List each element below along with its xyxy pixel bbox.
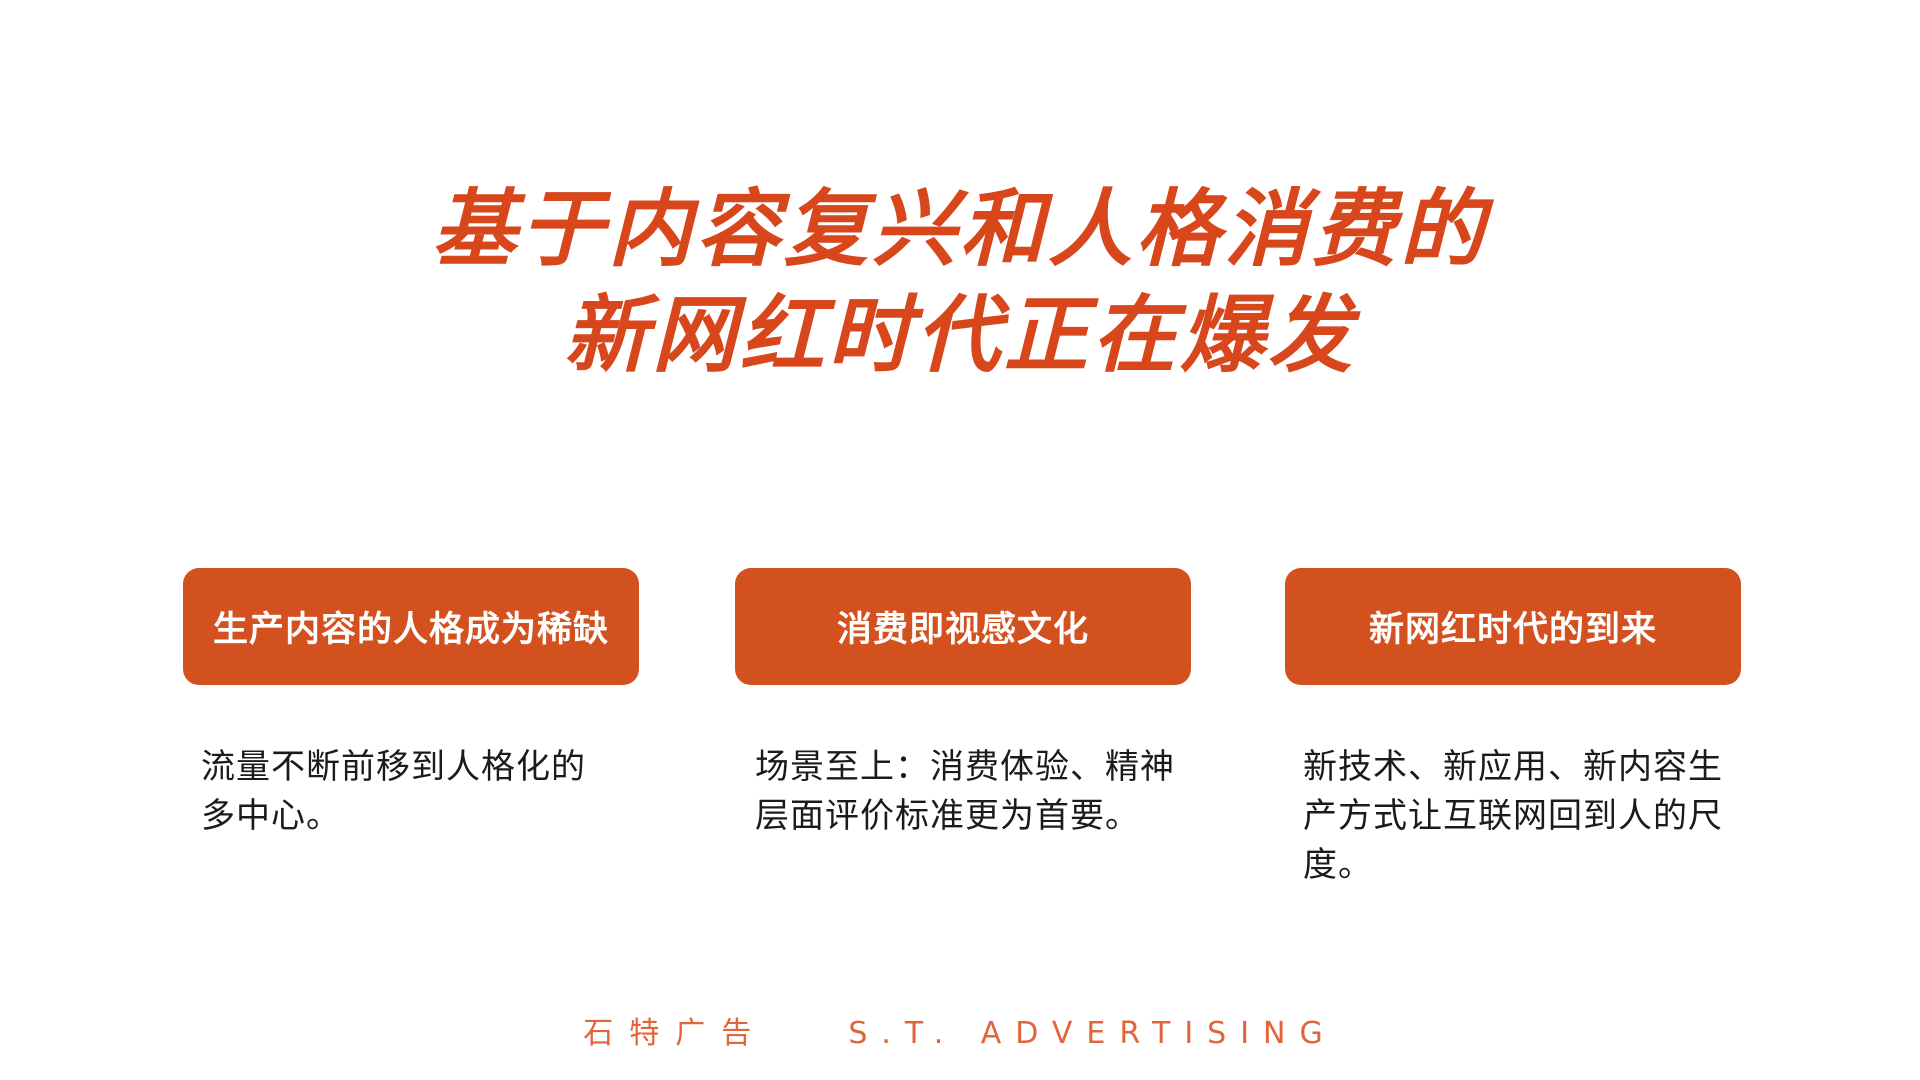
body-text-column-1: 流量不断前移到人格化的多中心。 [201, 743, 601, 841]
badge-column-1[interactable]: 生产内容的人格成为稀缺 [183, 568, 639, 685]
page-title-line-2: 新网红时代正在爆发 [0, 282, 1920, 388]
footer-brand-chinese: 石特广告 [583, 1016, 767, 1051]
column-3: 新网红时代的到来 新技术、新应用、新内容生产方式让互联网回到人的尺度。 [1285, 568, 1741, 890]
body-text-column-3: 新技术、新应用、新内容生产方式让互联网回到人的尺度。 [1303, 743, 1723, 890]
content-columns: 生产内容的人格成为稀缺 流量不断前移到人格化的多中心。 消费即视感文化 场景至上… [0, 568, 1920, 988]
page-title-line-1: 基于内容复兴和人格消费的 [0, 176, 1920, 282]
page-title: 基于内容复兴和人格消费的 新网红时代正在爆发 [0, 176, 1920, 388]
column-1: 生产内容的人格成为稀缺 流量不断前移到人格化的多中心。 [183, 568, 639, 841]
footer-brand-english: S.T. ADVERTISING [848, 1016, 1336, 1051]
footer-brand: 石特广告 S.T. ADVERTISING [0, 1008, 1920, 1052]
body-text-column-2: 场景至上：消费体验、精神层面评价标准更为首要。 [755, 743, 1175, 841]
badge-column-3[interactable]: 新网红时代的到来 [1285, 568, 1741, 685]
badge-column-2[interactable]: 消费即视感文化 [735, 568, 1191, 685]
column-2: 消费即视感文化 场景至上：消费体验、精神层面评价标准更为首要。 [735, 568, 1191, 841]
